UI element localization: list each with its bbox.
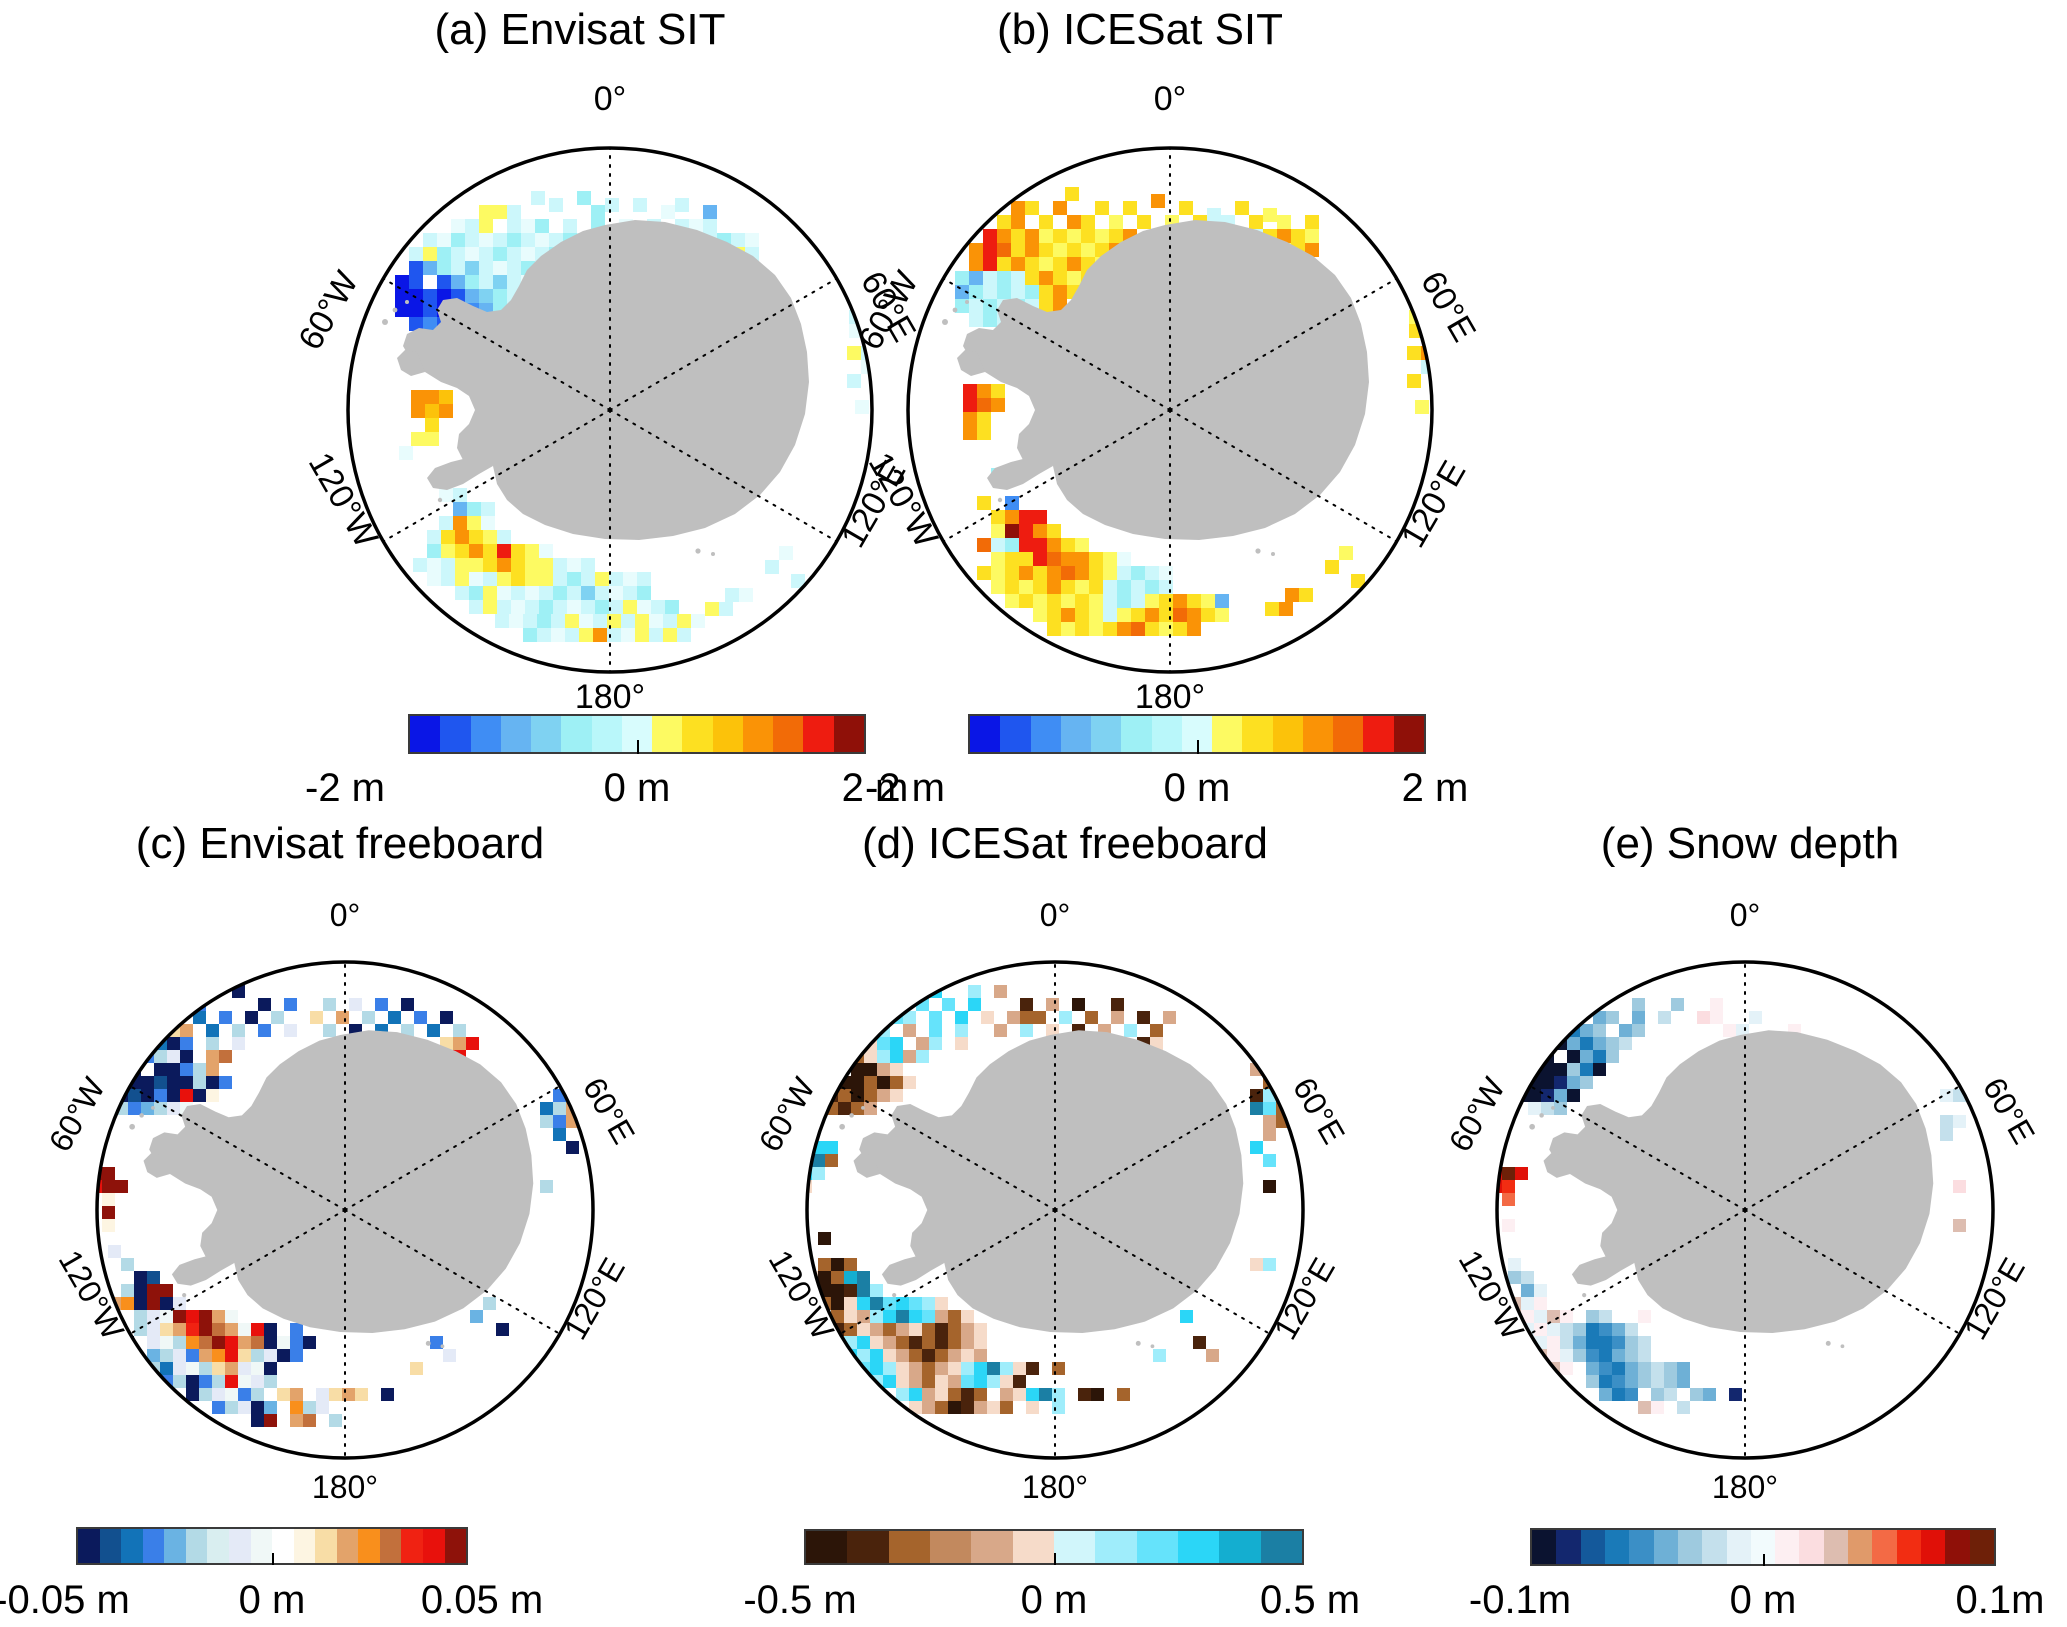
graticule-label-60E: 60°E [1286, 1072, 1352, 1150]
panel-e-map: 0° 180° 60°E 120°E 60°W 120°W [1400, 880, 2067, 1500]
graticule-label-120W: 120°W [52, 1244, 132, 1346]
colorbar-d-min-label: -0.5 m [743, 1580, 856, 1620]
panel-d-map: 0° 180° 60°E 120°E 60°W 120°W [710, 880, 1400, 1500]
graticule-label-0: 0° [1040, 897, 1071, 933]
panel-b-title: (b) ICESat SIT [740, 8, 1540, 52]
colorbar-e-mid-label: 0 m [1730, 1580, 1797, 1620]
graticule-label-180: 180° [575, 678, 645, 710]
graticule-label-180: 180° [1022, 1469, 1088, 1500]
colorbar-b-mid-label: 0 m [1164, 768, 1231, 808]
graticule-label-0: 0° [594, 80, 627, 118]
colorbar-e-zero-tick [1763, 1554, 1765, 1566]
polar-map-d: 0° 180° 60°E 120°E 60°W 120°W [710, 880, 1400, 1500]
graticule-label-60W: 60°W [752, 1071, 823, 1158]
polar-map-c: 0° 180° 60°E 120°E 60°W 120°W [0, 880, 690, 1500]
graticule-label-120W: 120°W [861, 446, 945, 554]
colorbar-b-max-label: 2 m [1402, 768, 1469, 808]
panel-b-map: 0° 180° 60°E 120°E 60°W 120°W [795, 70, 1545, 710]
graticule-label-60W: 60°W [291, 265, 366, 356]
graticule-label-0: 0° [1154, 80, 1187, 118]
colorbar-b-zero-tick [1197, 740, 1199, 754]
panel-d-title: (d) ICESat freeboard [725, 822, 1405, 866]
graticule-label-120E: 120°E [557, 1252, 632, 1346]
panel-c-map: 0° 180° 60°E 120°E 60°W 120°W [0, 880, 690, 1500]
graticule-label-60E: 60°E [1413, 265, 1483, 348]
graticule-label-0: 0° [330, 897, 361, 933]
graticule-label-120E: 120°E [1267, 1252, 1342, 1346]
graticule-label-120E: 120°E [1957, 1252, 2032, 1346]
graticule-label-180: 180° [1712, 1469, 1778, 1500]
colorbar-b-min-label: -2 m [865, 768, 945, 808]
colorbar-a-zero-tick [637, 740, 639, 754]
colorbar-a-mid-label: 0 m [604, 768, 671, 808]
graticule-label-60E: 60°E [576, 1072, 642, 1150]
graticule-label-60W: 60°W [1442, 1071, 1513, 1158]
colorbar-d-mid-label: 0 m [1021, 1580, 1088, 1620]
graticule-label-180: 180° [1135, 678, 1205, 710]
colorbar-c-zero-tick [272, 1553, 274, 1565]
graticule-label-180: 180° [312, 1469, 378, 1500]
colorbar-c-max-label: 0.05 m [421, 1580, 543, 1620]
graticule-label-0: 0° [1730, 897, 1761, 933]
panel-e-title: (e) Snow depth [1440, 822, 2060, 866]
graticule-label-60W: 60°W [42, 1071, 113, 1158]
graticule-label-120E: 120°E [1394, 454, 1473, 554]
polar-map-e: 0° 180° 60°E 120°E 60°W 120°W [1400, 880, 2067, 1500]
colorbar-d-zero-tick [1054, 1553, 1056, 1565]
panel-c-title: (c) Envisat freeboard [0, 822, 680, 866]
colorbar-c-mid-label: 0 m [239, 1580, 306, 1620]
polar-map-b: 0° 180° 60°E 120°E 60°W 120°W [795, 70, 1545, 710]
colorbar-c-min-label: -0.05 m [0, 1580, 130, 1620]
graticule-label-120W: 120°W [301, 446, 385, 554]
colorbar-e-min-label: -0.1m [1469, 1580, 1571, 1620]
colorbar-a-min-label: -2 m [305, 768, 385, 808]
graticule-label-60E: 60°E [1976, 1072, 2042, 1150]
graticule-label-60W: 60°W [851, 265, 926, 356]
colorbar-d-max-label: 0.5 m [1260, 1580, 1360, 1620]
colorbar-e-max-label: 0.1m [1956, 1580, 2045, 1620]
